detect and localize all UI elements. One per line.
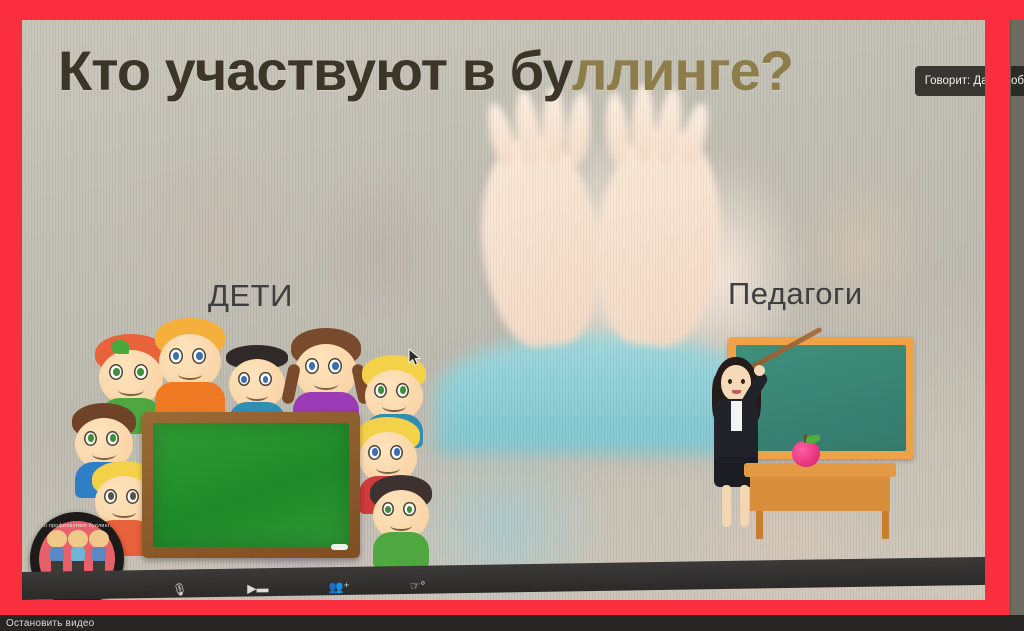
active-speaker-badge: Говорит: Дар — [915, 66, 1004, 96]
microphone-icon[interactable]: 🎙 — [172, 583, 187, 595]
child-head — [159, 328, 221, 390]
teacher-desk — [744, 463, 896, 477]
child-head — [99, 344, 163, 406]
children-illustration — [77, 320, 427, 585]
chalk-icon — [331, 544, 348, 550]
add-participant-icon[interactable]: 👥⁺ — [328, 581, 349, 593]
active-speaker-badge-occluded-tail: об — [1011, 66, 1024, 96]
red-border-top — [0, 0, 1024, 20]
red-border-left — [0, 0, 22, 631]
logo-figure — [68, 530, 88, 572]
kids-green-chalkboard — [142, 412, 360, 558]
apple-icon — [792, 441, 820, 467]
shared-slide-surface: Кто участвуют в буллинге? ДЕТИ Педагоги — [22, 20, 988, 600]
reactions-icon[interactable]: ☞° — [410, 580, 426, 592]
active-speaker-label: Говорит: Дар — [925, 75, 994, 87]
screen-share-viewport: Кто участвуют в буллинге? ДЕТИ Педагоги — [0, 0, 1024, 631]
logo-top-text: по профилактике буллинга — [30, 523, 124, 530]
os-taskbar[interactable]: Остановить видео — [0, 615, 1024, 631]
slide-title: Кто участвуют в буллинге? — [58, 38, 793, 103]
red-border-bottom — [0, 600, 1010, 616]
video-camera-icon[interactable]: ▶▬ — [247, 582, 268, 594]
category-label-teachers: Педагоги — [728, 276, 863, 312]
logo-figure — [47, 530, 67, 572]
mouse-cursor — [408, 348, 422, 373]
child-head — [295, 338, 357, 400]
child-head — [373, 484, 429, 540]
slide-title-tail: ллинге? — [572, 39, 793, 102]
logo-figure — [89, 530, 109, 572]
child-head — [229, 354, 285, 410]
category-label-children: ДЕТИ — [208, 278, 293, 314]
slide-title-main: Кто участвуют в бу — [58, 39, 572, 102]
stop-video-button[interactable]: Остановить видео — [0, 618, 94, 629]
teacher-illustration — [692, 325, 922, 540]
